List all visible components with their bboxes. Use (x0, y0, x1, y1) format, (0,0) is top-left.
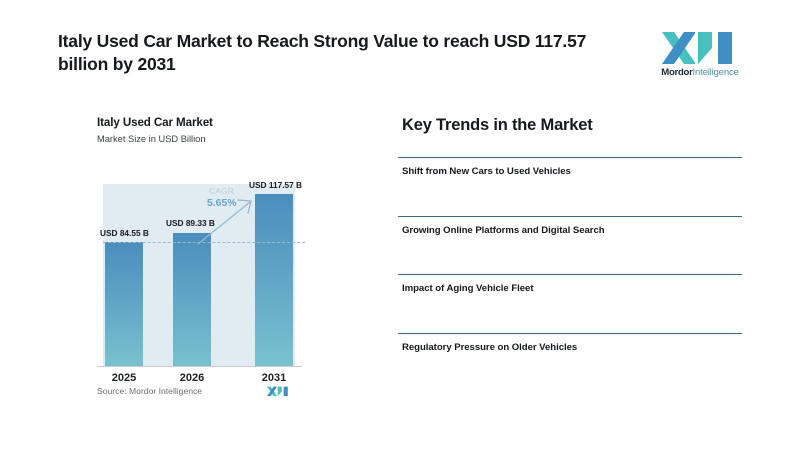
bar-2025 (105, 242, 143, 366)
chart-title: Italy Used Car Market (97, 116, 213, 129)
source-label: Source: Mordor Intelligence (97, 386, 202, 396)
list-item[interactable]: Impact of Aging Vehicle Fleet (398, 274, 746, 333)
bar-2031 (255, 194, 293, 366)
trend-label: Impact of Aging Vehicle Fleet (402, 283, 533, 294)
brand-wordmark: MordorIntelligence (652, 68, 748, 78)
brand-logo: MordorIntelligence (652, 26, 748, 82)
x-axis-line (97, 366, 302, 367)
trend-label: Regulatory Pressure on Older Vehicles (402, 342, 577, 353)
chart-source-row: Source: Mordor Intelligence (97, 384, 307, 400)
cagr-label: CAGR (209, 186, 234, 196)
trend-divider (398, 274, 742, 275)
key-trends-title: Key Trends in the Market (402, 116, 593, 135)
bar-value-label-2031: USD 117.57 B (249, 180, 302, 190)
brand-word-primary: Mordor (661, 67, 692, 78)
trend-label: Shift from New Cars to Used Vehicles (402, 166, 571, 177)
key-trends-panel: Key Trends in the Market Shift from New … (398, 108, 746, 388)
list-item[interactable]: Regulatory Pressure on Older Vehicles (398, 333, 746, 392)
key-trends-list: Shift from New Cars to Used Vehicles Gro… (398, 157, 746, 391)
trend-divider (398, 216, 742, 217)
list-item[interactable]: Growing Online Platforms and Digital Sea… (398, 216, 746, 275)
bar-value-label-2025: USD 84.55 B (100, 228, 149, 238)
x-tick-2031: 2031 (253, 372, 295, 384)
list-item[interactable]: Shift from New Cars to Used Vehicles (398, 157, 746, 216)
chart-subtitle: Market Size in USD Billion (97, 134, 206, 144)
x-tick-2025: 2025 (103, 372, 145, 384)
page-header: Italy Used Car Market to Reach Strong Va… (0, 0, 800, 96)
x-tick-2026: 2026 (171, 372, 213, 384)
trend-divider (398, 333, 742, 334)
mordor-m-mark-icon (662, 26, 736, 64)
mordor-m-mark-icon-small (267, 384, 289, 397)
bar-chart-plot: USD 84.55 B USD 89.33 B USD 117.57 B CAG… (103, 184, 295, 366)
chart-panel: Italy Used Car Market Market Size in USD… (0, 96, 360, 426)
brand-word-secondary: Intelligence (693, 67, 739, 78)
bar-2026 (173, 233, 211, 366)
trend-divider (398, 157, 742, 158)
trend-label: Growing Online Platforms and Digital Sea… (402, 225, 605, 236)
cagr-value: 5.65% (207, 198, 236, 209)
page-title: Italy Used Car Market to Reach Strong Va… (58, 30, 628, 77)
